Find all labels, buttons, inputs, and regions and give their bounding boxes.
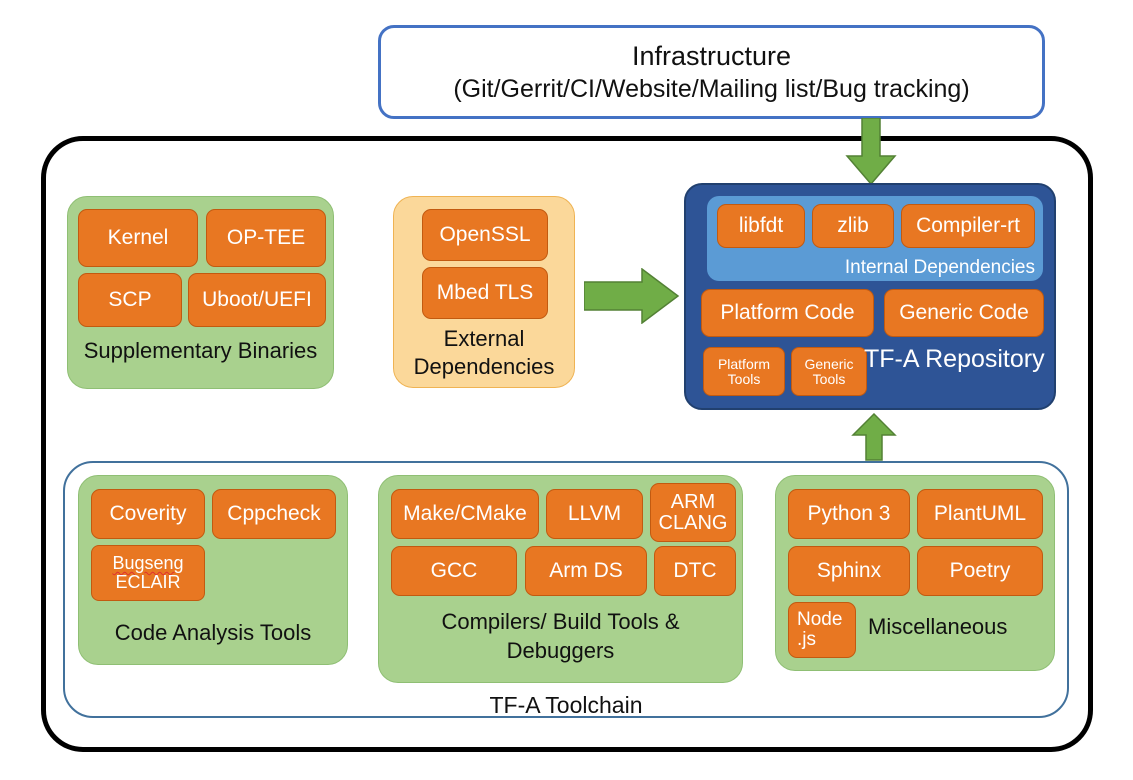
compilers-build-tools-label-line2: Debuggers [379, 638, 742, 663]
chip-libfdt[interactable]: libfdt [717, 204, 805, 248]
internal-dependencies-label: Internal Dependencies [845, 257, 1035, 279]
chip-gcc[interactable]: GCC [391, 546, 517, 596]
chip-dtc[interactable]: DTC [654, 546, 736, 596]
chip-platform-tools[interactable]: Platform Tools [703, 347, 785, 396]
tfa-toolchain-label: TF-A Toolchain [63, 692, 1069, 719]
chip-platform-code[interactable]: Platform Code [701, 289, 874, 337]
tfa-repository-box: libfdt zlib Compiler-rt Internal Depende… [684, 183, 1056, 410]
code-analysis-tools-group: Coverity Cppcheck Bugseng ECLAIR Code An… [78, 475, 348, 665]
chip-mbed-tls[interactable]: Mbed TLS [422, 267, 548, 319]
chip-generic-tools[interactable]: Generic Tools [791, 347, 867, 396]
chip-bugseng-eclair-line2: ECLAIR [115, 573, 180, 592]
infrastructure-to-repository-arrow [845, 118, 897, 186]
chip-scp[interactable]: SCP [78, 273, 182, 327]
chip-arm-clang[interactable]: ARM CLANG [650, 483, 736, 542]
code-analysis-tools-label: Code Analysis Tools [79, 620, 347, 645]
miscellaneous-group: Python 3 PlantUML Sphinx Poetry Node .js… [775, 475, 1055, 671]
chip-op-tee[interactable]: OP-TEE [206, 209, 326, 267]
infrastructure-box: Infrastructure (Git/Gerrit/CI/Website/Ma… [378, 25, 1045, 119]
chip-bugseng-eclair-line1: Bugseng [112, 554, 183, 573]
chip-generic-tools-line2: Tools [813, 372, 846, 387]
external-dependencies-group: OpenSSL Mbed TLS External Dependencies [393, 196, 575, 388]
chip-python-3[interactable]: Python 3 [788, 489, 910, 539]
chip-make-cmake[interactable]: Make/CMake [391, 489, 539, 539]
chip-arm-ds[interactable]: Arm DS [525, 546, 647, 596]
chip-compiler-rt[interactable]: Compiler-rt [901, 204, 1035, 248]
chip-kernel[interactable]: Kernel [78, 209, 198, 267]
chip-cppcheck[interactable]: Cppcheck [212, 489, 336, 539]
chip-plantuml[interactable]: PlantUML [917, 489, 1043, 539]
compilers-build-tools-group: Make/CMake LLVM ARM CLANG GCC Arm DS DTC… [378, 475, 743, 683]
chip-llvm[interactable]: LLVM [546, 489, 643, 539]
chip-zlib[interactable]: zlib [812, 204, 894, 248]
miscellaneous-label: Miscellaneous [776, 614, 1054, 639]
diagram-canvas: Infrastructure (Git/Gerrit/CI/Website/Ma… [0, 0, 1133, 780]
external-dependencies-to-repository-arrow [584, 268, 680, 324]
infrastructure-subtitle: (Git/Gerrit/CI/Website/Mailing list/Bug … [453, 73, 969, 105]
chip-generic-tools-line1: Generic [804, 357, 853, 372]
tfa-repository-label: TF-A Repository [864, 345, 1045, 374]
compilers-build-tools-label-line1: Compilers/ Build Tools & [379, 609, 742, 634]
toolchain-to-repository-arrow [851, 413, 897, 461]
chip-uboot-uefi[interactable]: Uboot/UEFI [188, 273, 326, 327]
chip-bugseng-eclair[interactable]: Bugseng ECLAIR [91, 545, 205, 601]
chip-poetry[interactable]: Poetry [917, 546, 1043, 596]
infrastructure-title: Infrastructure [632, 39, 791, 74]
supplementary-binaries-group: Kernel OP-TEE SCP Uboot/UEFI Supplementa… [67, 196, 334, 389]
chip-sphinx[interactable]: Sphinx [788, 546, 910, 596]
chip-openssl[interactable]: OpenSSL [422, 209, 548, 261]
chip-arm-clang-line1: ARM [671, 492, 715, 513]
external-dependencies-label-line2: Dependencies [394, 354, 574, 379]
chip-coverity[interactable]: Coverity [91, 489, 205, 539]
chip-generic-code[interactable]: Generic Code [884, 289, 1044, 337]
supplementary-binaries-label: Supplementary Binaries [68, 338, 333, 363]
internal-dependencies-box: libfdt zlib Compiler-rt Internal Depende… [707, 196, 1043, 281]
chip-platform-tools-line1: Platform [718, 357, 770, 372]
chip-arm-clang-line2: CLANG [659, 513, 728, 534]
external-dependencies-label-line1: External [394, 326, 574, 351]
chip-platform-tools-line2: Tools [728, 372, 761, 387]
